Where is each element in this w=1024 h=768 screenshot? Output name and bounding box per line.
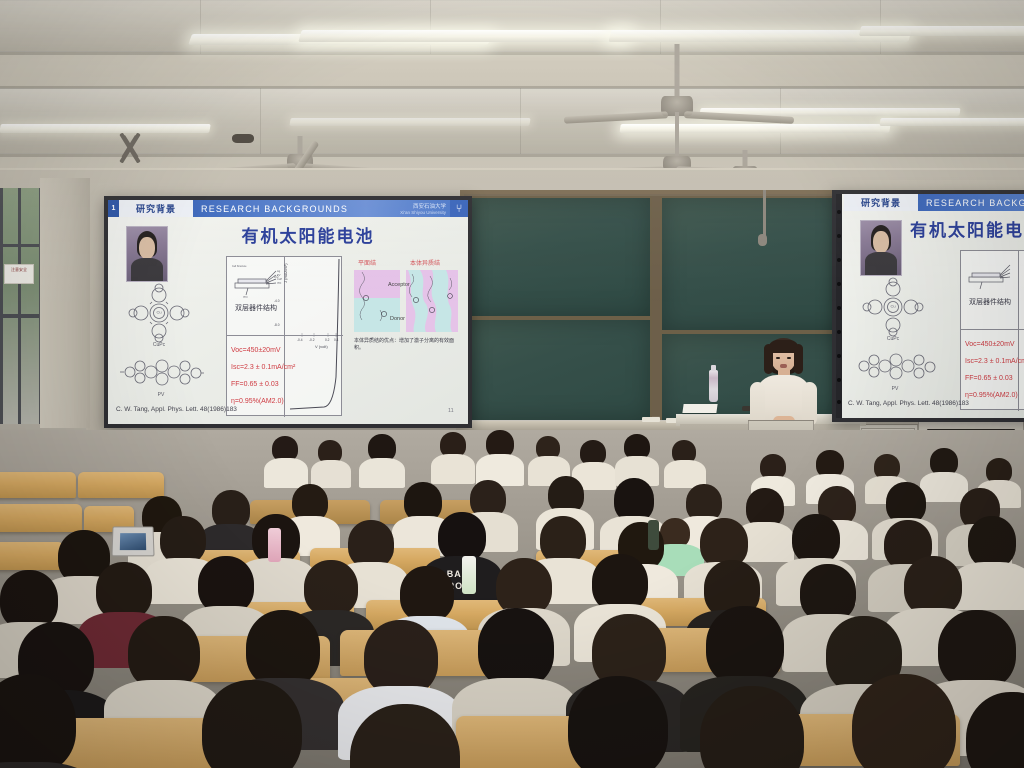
hj-planar-title: 平面结 (358, 258, 376, 267)
projection-screen-left: 1 研究背景 RESEARCH BACKGROUNDS 西安石油大学 Xi'an… (104, 196, 472, 428)
molecule-cupc-label: CuPc (122, 342, 196, 348)
hj-note: 本体异质结的优点：增加了激子分离的有效面积。 (354, 338, 454, 352)
jv-ylabel: J (mA/cm²) (283, 237, 288, 283)
researcher-portrait (860, 220, 902, 276)
ceiling-light (298, 30, 631, 42)
audience-seating: BAME ROAT (0, 430, 1024, 768)
jv-xlabel: V (volt) (315, 344, 328, 349)
presenter (748, 338, 818, 430)
university-name-cn: 西安石油大学 (413, 202, 446, 210)
seat-row (0, 504, 82, 532)
jv-ytick: -4.0 (274, 299, 280, 303)
slide-citation: C. W. Tang, Appl. Phys. Lett. 48(1986)18… (116, 406, 237, 413)
ceiling-light (879, 118, 1024, 126)
slide-research-backgrounds: 1 研究背景 RESEARCH BACKGROUNDS 西安石油大学 Xi'an… (108, 200, 468, 424)
molecule-pv (852, 346, 938, 386)
water-bottle (709, 370, 718, 402)
slide-header-title-en: RESEARCH BACKGROUNDS (918, 194, 1024, 211)
slide-header-title-en: RESEARCH BACKGROUNDS (193, 200, 366, 217)
slide-header: 研究背景 RESEARCH BACKGROUNDS (844, 194, 1024, 211)
slide-title: 有机太阳能电池 (910, 216, 1024, 241)
slide-header-title-cn: 研究背景 (119, 200, 193, 217)
papers-on-desk (682, 404, 717, 413)
device-diagram-caption: 双层器件结构 (229, 303, 283, 313)
slide-page-number: 11 (448, 408, 454, 414)
water-bottle (268, 528, 281, 562)
molecule-cupc: Cu (122, 282, 196, 344)
device-diagram-caption: 双层器件结构 (963, 297, 1017, 307)
slide-header-title-cn: 研究背景 (844, 194, 918, 211)
device-and-jv-panel: Cell Structure Ag PV CuPc ITO ITO 双层器件结构 (226, 256, 342, 416)
jv-xtick: 0.4 (334, 338, 338, 342)
hj-bulk-diagram (406, 270, 458, 332)
ceiling-light (289, 118, 530, 126)
hj-acceptor-label: Acceptor (388, 282, 410, 288)
projection-screen-right: 研究背景 RESEARCH BACKGROUNDS 有机太阳能电池 (832, 190, 1024, 422)
hj-bulk-title: 本体异质结 (410, 258, 440, 267)
door-safety-sign: 注意安全 (4, 264, 34, 284)
svg-text:Ag: Ag (277, 269, 281, 273)
svg-text:ITO: ITO (277, 281, 281, 285)
hj-planar-diagram (354, 270, 400, 332)
jv-ytick: 0.0 (274, 275, 278, 279)
svg-text:Cu: Cu (156, 310, 161, 315)
wall-pillar (40, 178, 90, 428)
water-bottle (648, 520, 659, 550)
jv-curve (284, 257, 343, 417)
jv-xtick: 0.2 (325, 338, 329, 342)
svg-text:Cu: Cu (890, 304, 895, 309)
molecule-cupc-label: CuPc (856, 336, 930, 342)
svg-text:ITO: ITO (243, 295, 248, 299)
ceiling-light (859, 26, 1024, 36)
param-ff: FF=0.65 ± 0.03 (231, 381, 279, 388)
param-isc: Isc=2.3 ± 0.1mA/cm² (965, 358, 1024, 365)
device-and-jv-panel: 双层器件结构 Voc=450±20mV Isc=2.3 ± 0.1mA/cm² … (960, 250, 1024, 410)
molecule-pv-label: PV (852, 386, 938, 392)
microphone-head (758, 234, 767, 246)
slide-research-backgrounds-duplicate: 研究背景 RESEARCH BACKGROUNDS 有机太阳能电池 (844, 194, 1024, 418)
svg-text:Cell Structure: Cell Structure (232, 265, 247, 268)
slide-header-university: 西安石油大学 Xi'an Shiyou University (366, 200, 450, 217)
university-name-en: Xi'an Shiyou University (400, 210, 446, 215)
seat-row (78, 472, 164, 498)
slide-header-number: 1 (108, 200, 119, 217)
researcher-portrait (126, 226, 168, 282)
molecule-pv-label: PV (118, 392, 204, 398)
slide-citation: C. W. Tang, Appl. Phys. Lett. 48(1986)18… (848, 400, 969, 407)
jv-xtick: -0.2 (309, 338, 315, 342)
device-structure-diagram (964, 255, 1016, 295)
param-isc: Isc=2.3 ± 0.1mA/cm² (231, 364, 295, 371)
param-voc: Voc=450±20mV (231, 347, 281, 354)
jv-xtick: -0.4 (297, 338, 303, 342)
slide-header: 1 研究背景 RESEARCH BACKGROUNDS 西安石油大学 Xi'an… (108, 200, 468, 217)
param-efficiency: η=0.95%(AM2.0) (965, 392, 1018, 399)
student-laptop (111, 526, 154, 556)
share-logo-icon: ⑂ (450, 200, 468, 217)
left-window-door: 注意安全 (0, 188, 42, 424)
molecule-pv (118, 352, 204, 392)
param-ff: FF=0.65 ± 0.03 (965, 375, 1013, 382)
param-voc: Voc=450±20mV (965, 341, 1015, 348)
seat-row (0, 472, 76, 498)
chalk (642, 417, 660, 422)
lecture-hall-photo: 注意安全 LASR (0, 0, 1024, 768)
hj-donor-label: Donor (390, 316, 405, 322)
molecule-cupc: Cu (856, 276, 930, 338)
heterojunction-panel: 平面结 本体异质结 (352, 258, 460, 362)
param-efficiency: η=0.95%(AM2.0) (231, 398, 284, 405)
device-structure-diagram: Cell Structure Ag PV CuPc ITO ITO (230, 261, 282, 301)
seat-row (0, 542, 64, 570)
jv-ytick: -8.0 (274, 323, 280, 327)
microphone-boom (763, 190, 766, 236)
slide-title: 有机太阳能电池 (178, 222, 438, 247)
water-bottle (462, 556, 476, 594)
